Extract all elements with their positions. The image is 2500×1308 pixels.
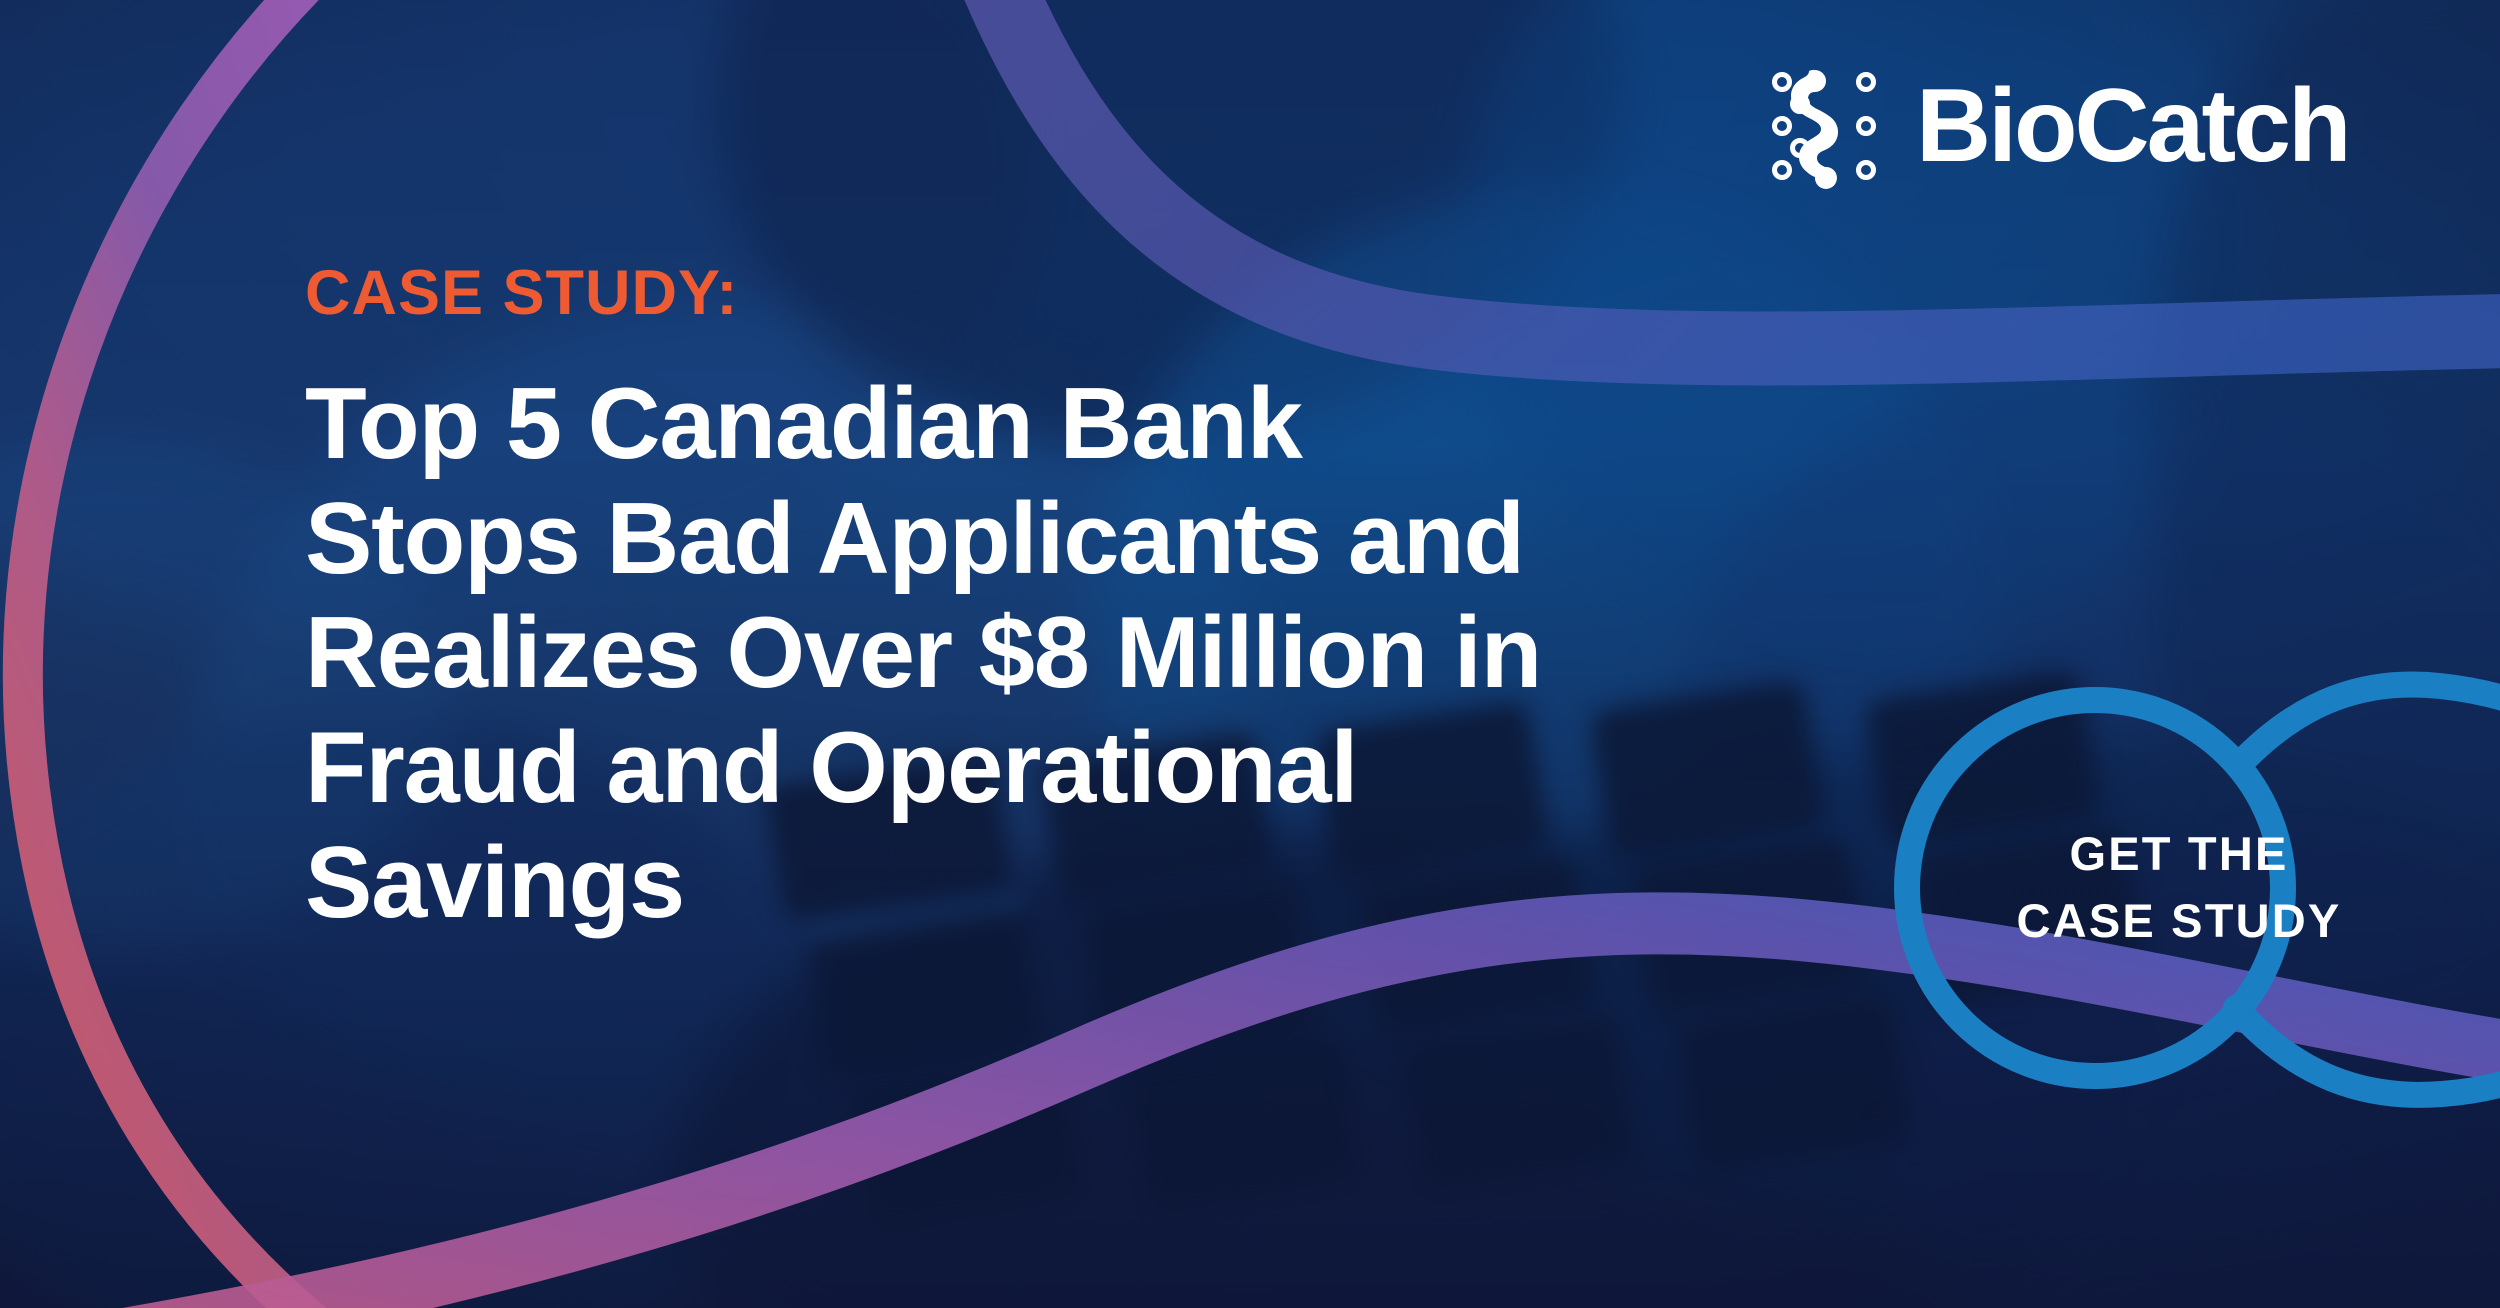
biocatch-dna-dots-icon	[1768, 62, 1890, 190]
cta-line-1: GET THE	[2069, 821, 2288, 888]
brand-wordmark: BioCatch	[1916, 74, 2348, 178]
case-study-banner: BioCatch CASE STUDY: Top 5 Canadian Bank…	[0, 0, 2500, 1308]
biocatch-logo[interactable]: BioCatch	[1768, 62, 2348, 190]
eyebrow-label: CASE STUDY:	[305, 262, 1945, 325]
headline-line-4: Fraud and Operational	[305, 711, 1945, 826]
headline-line-5: Savings	[305, 826, 1945, 941]
headline-line-3: Realizes Over $8 Million in	[305, 596, 1945, 711]
copy-block: CASE STUDY: Top 5 Canadian Bank Stops Ba…	[305, 262, 1945, 940]
headline-line-1: Top 5 Canadian Bank	[305, 367, 1945, 482]
cta-line-2: CASE STUDY	[2017, 888, 2342, 955]
headline-line-2: Stops Bad Applicants and	[305, 482, 1945, 597]
page-title: Top 5 Canadian Bank Stops Bad Applicants…	[305, 367, 1945, 940]
get-case-study-button[interactable]: GET THE CASE STUDY	[1906, 688, 2284, 1088]
